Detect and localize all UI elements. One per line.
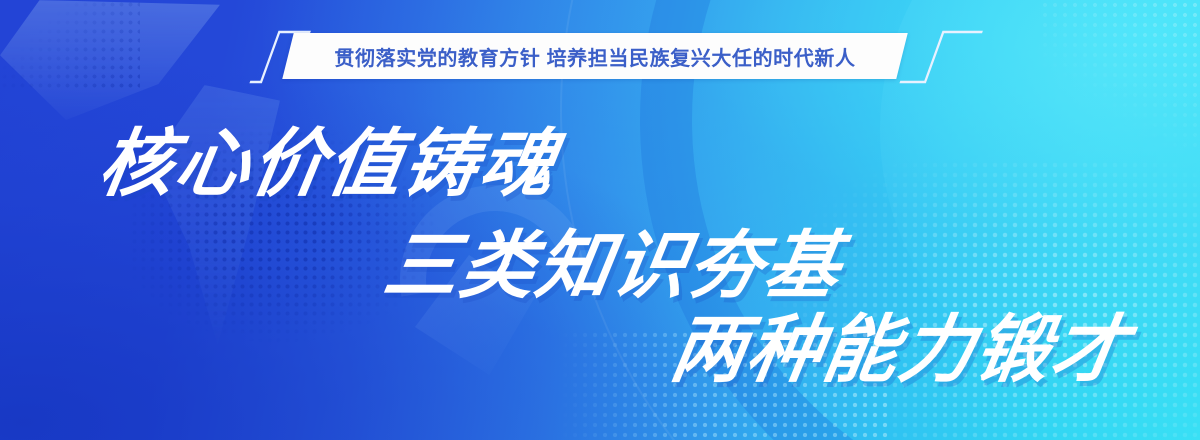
education-slogan-banner: 贯彻落实党的教育方针 培养担当民族复兴大任的时代新人 核心价值铸魂 三类知识夯基… (0, 0, 1200, 440)
bracket-right-accent-icon (900, 30, 976, 86)
halftone-dots-left (130, 120, 460, 350)
halftone-dots-right (760, 160, 1200, 440)
header-slogan-text: 贯彻落实党的教育方针 培养担当民族复兴大任的时代新人 (288, 33, 902, 79)
header-banner-zone: 贯彻落实党的教育方针 培养担当民族复兴大任的时代新人 (0, 0, 1200, 110)
